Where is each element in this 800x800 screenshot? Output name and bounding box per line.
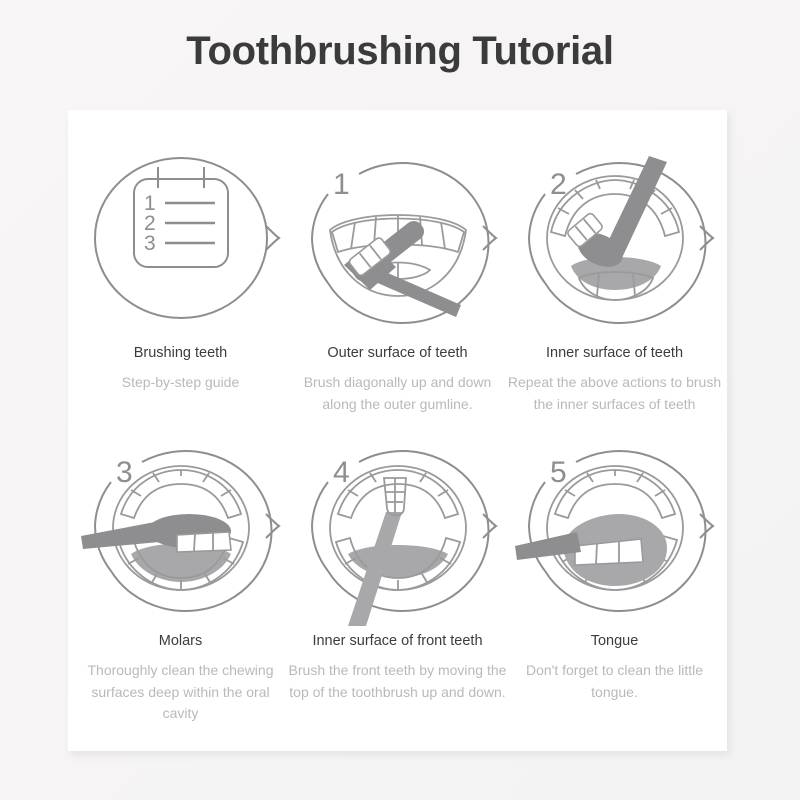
page-title: Toothbrushing Tutorial <box>0 27 800 75</box>
steps-grid: 1 2 3 Brushing teeth Step-by-step guide <box>68 110 727 751</box>
step-badge-3: 3 <box>116 456 133 489</box>
step-description: Step-by-step guide <box>71 372 290 394</box>
molars-brushing-icon: 3 <box>71 436 290 626</box>
front-teeth-inner-brushing-icon: 4 <box>288 436 507 626</box>
outer-surface-brushing-icon: 1 <box>288 148 507 338</box>
step-badge-1: 1 <box>333 168 350 201</box>
step-panel-tongue[interactable]: 5 <box>505 436 724 703</box>
checklist-notepad-icon: 1 2 3 <box>71 148 290 338</box>
step-title: Outer surface of teeth <box>288 344 507 363</box>
step-title: Tongue <box>505 632 724 651</box>
step-panel-molars[interactable]: 3 <box>71 436 290 725</box>
page-background: Toothbrushing Tutorial <box>0 0 800 800</box>
step-panel-inner-surface[interactable]: 2 <box>505 148 724 415</box>
step-description: Thoroughly clean the chewing surfaces de… <box>71 660 290 725</box>
step-title: Inner surface of front teeth <box>288 632 507 651</box>
step-panel-front-teeth-inner[interactable]: 4 <box>288 436 507 703</box>
step-title: Molars <box>71 632 290 651</box>
inner-surface-brushing-icon: 2 <box>505 148 724 338</box>
step-description: Don't forget to clean the little tongue. <box>505 660 724 703</box>
step-title: Inner surface of teeth <box>505 344 724 363</box>
step-panel-brushing-teeth[interactable]: 1 2 3 Brushing teeth Step-by-step guide <box>71 148 290 394</box>
step-description: Repeat the above actions to brush the in… <box>505 372 724 415</box>
step-description: Brush diagonally up and down along the o… <box>288 372 507 415</box>
step-title: Brushing teeth <box>71 344 290 363</box>
tongue-brushing-icon: 5 <box>505 436 724 626</box>
tutorial-card: 1 2 3 Brushing teeth Step-by-step guide <box>68 110 727 751</box>
step-badge-4: 4 <box>333 456 350 489</box>
step-badge-5: 5 <box>550 456 567 489</box>
step-panel-outer-surface[interactable]: 1 <box>288 148 507 415</box>
step-description: Brush the front teeth by moving the top … <box>288 660 507 703</box>
svg-text:3: 3 <box>144 232 156 255</box>
